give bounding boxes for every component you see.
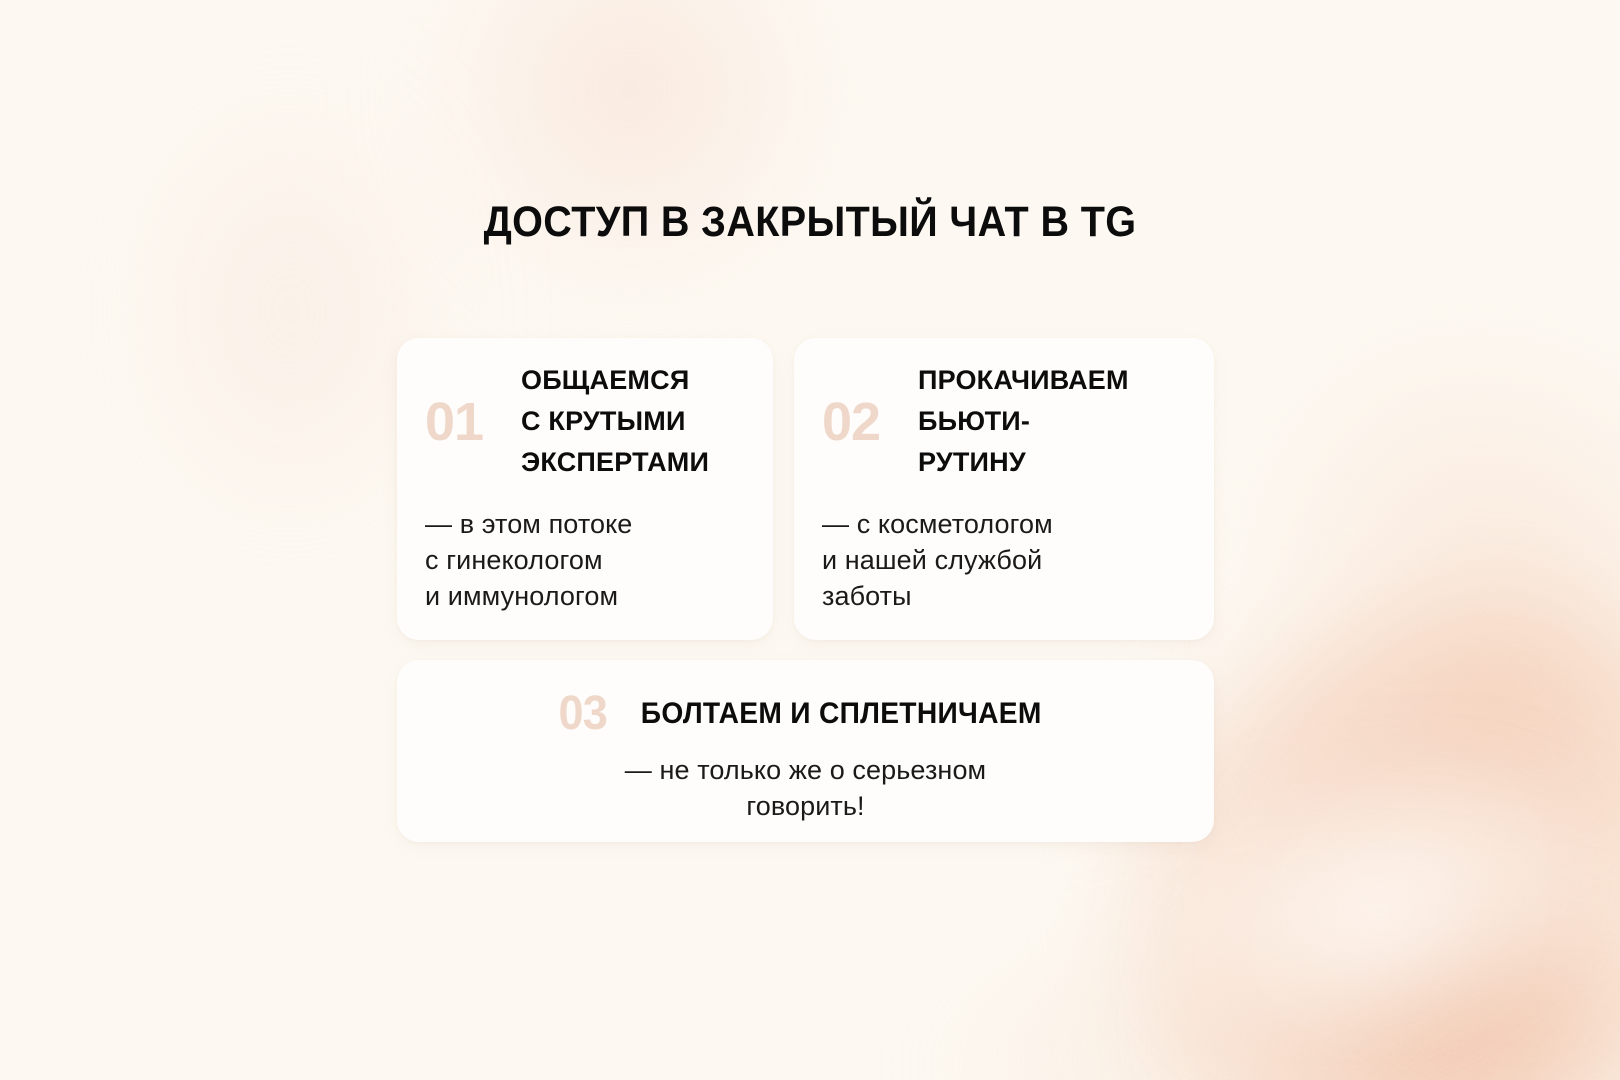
- slide-content: ДОСТУП В ЗАКРЫТЫЙ ЧАТ В TG 01 ОБЩАЕМСЯ С…: [0, 0, 1620, 1080]
- card-header: 01 ОБЩАЕМСЯ С КРУТЫМИ ЭКСПЕРТАМИ: [425, 360, 709, 483]
- card-heading: ОБЩАЕМСЯ С КРУТЫМИ ЭКСПЕРТАМИ: [521, 360, 709, 483]
- benefit-card-01: 01 ОБЩАЕМСЯ С КРУТЫМИ ЭКСПЕРТАМИ — в это…: [397, 338, 773, 640]
- card-heading: ПРОКАЧИВАЕМ БЬЮТИ- РУТИНУ: [918, 360, 1129, 483]
- card-header: 03 БОЛТАЕМ И СПЛЕТНИЧАЕМ: [397, 660, 1214, 738]
- card-number: 02: [822, 395, 918, 449]
- card-description: — не только же о серьезном говорить!: [397, 752, 1214, 824]
- page-title: ДОСТУП В ЗАКРЫТЫЙ ЧАТ В TG: [65, 198, 1555, 247]
- card-heading: БОЛТАЕМ И СПЛЕТНИЧАЕМ: [641, 696, 1042, 732]
- benefit-card-03: 03 БОЛТАЕМ И СПЛЕТНИЧАЕМ — не только же …: [397, 660, 1214, 842]
- benefit-card-02: 02 ПРОКАЧИВАЕМ БЬЮТИ- РУТИНУ — с космето…: [794, 338, 1214, 640]
- card-description: — с косметологом и нашей службой заботы: [822, 506, 1053, 614]
- card-header: 02 ПРОКАЧИВАЕМ БЬЮТИ- РУТИНУ: [822, 360, 1129, 483]
- card-number: 03: [558, 690, 606, 738]
- card-number: 01: [425, 395, 521, 449]
- card-description: — в этом потоке с гинекологом и иммуноло…: [425, 506, 632, 614]
